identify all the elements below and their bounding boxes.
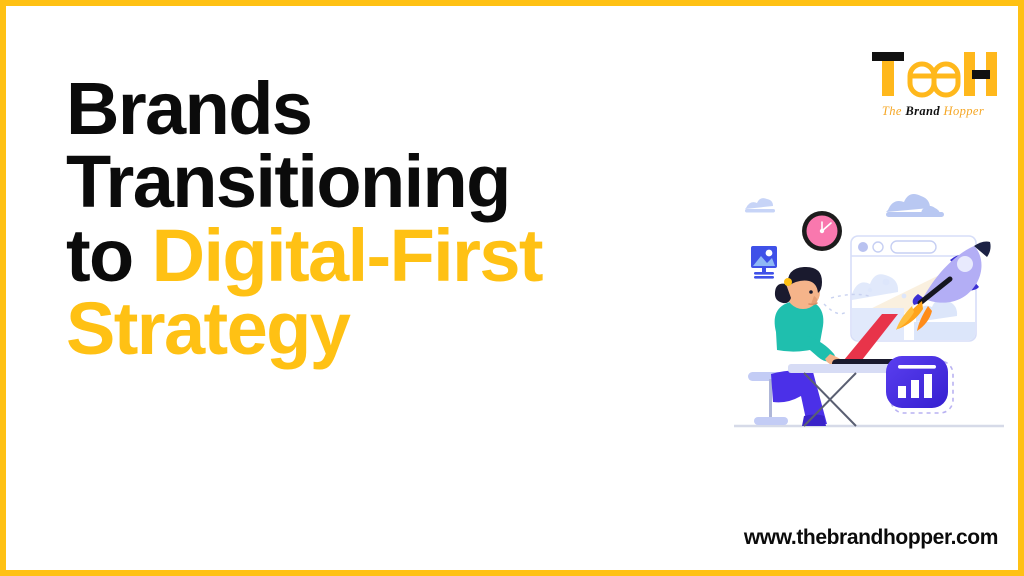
poster-canvas: The Brand Hopper Brands Transitioning to… (0, 0, 1024, 576)
hero-illustration (726, 186, 1012, 442)
rocket-window (956, 255, 974, 273)
headline-line-1: Brands (66, 72, 726, 145)
dashed-connector-2 (824, 304, 846, 314)
headline-line-3-accent: Digital-First (152, 214, 542, 297)
bar-chart-top-rule (898, 365, 936, 369)
headline-line-3-dark: to (66, 214, 152, 297)
browser-address-bar (891, 241, 936, 253)
logo-tagline-hopper: Hopper (940, 104, 984, 118)
brand-logo[interactable]: The Brand Hopper (868, 46, 998, 130)
logo-tagline-brand: Brand (905, 104, 940, 118)
person-eye (809, 290, 813, 294)
cloud-large-right-icon (886, 194, 944, 217)
browser-dot-1 (858, 242, 868, 252)
headline-line-3: to Digital-First (66, 219, 726, 292)
bar-chart-bar-1 (898, 386, 906, 398)
headline-line-2: Transitioning (66, 145, 726, 218)
headline-block: Brands Transitioning to Digital-First St… (66, 72, 726, 365)
logo-wordmark-tooh (868, 46, 998, 102)
logo-tagline-the: The (882, 104, 905, 118)
illustration-svg (726, 186, 1012, 442)
wall-clock-icon (802, 211, 842, 251)
person-hair-tie (784, 278, 792, 286)
headline-line-4: Strategy (66, 292, 726, 365)
browser-dot-2 (873, 242, 883, 252)
bar-chart-bar-3 (924, 374, 932, 398)
logo-tagline: The Brand Hopper (870, 104, 996, 119)
image-icon (751, 246, 777, 279)
bar-chart-icon (886, 356, 953, 413)
website-url[interactable]: www.thebrandhopper.com (744, 526, 998, 550)
bar-chart-bar-2 (911, 380, 919, 398)
cloud-small-left-icon (745, 198, 775, 212)
